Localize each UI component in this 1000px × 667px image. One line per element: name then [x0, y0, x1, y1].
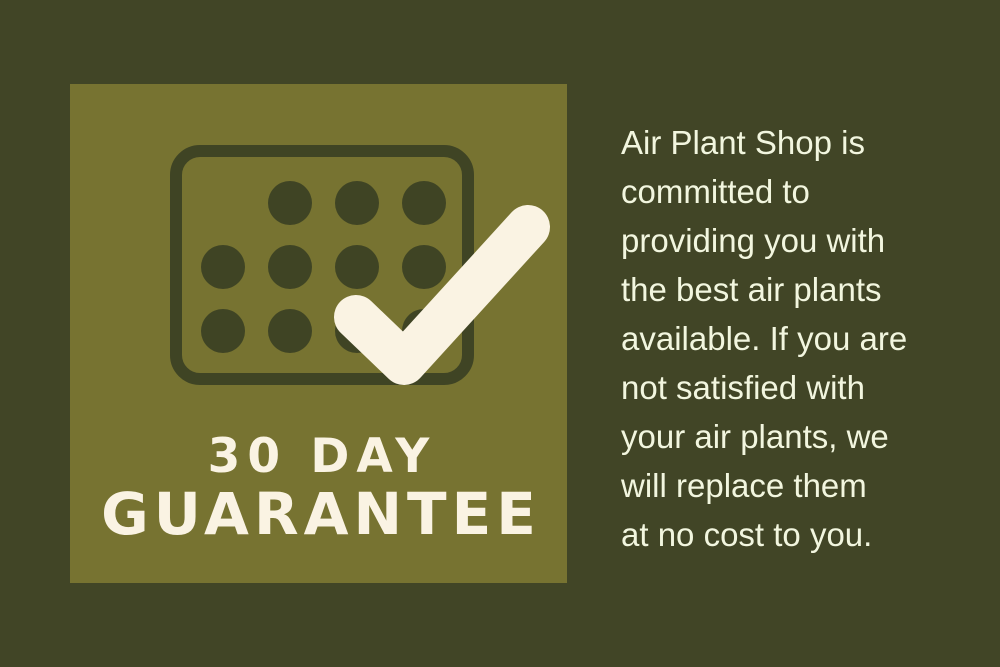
- badge-headline: 30 DAY GUARANTEE: [70, 434, 567, 543]
- guarantee-copy-paragraph: Air Plant Shop is committed to providing…: [621, 118, 951, 559]
- headline-line-1: 30 DAY: [70, 434, 567, 480]
- copy-line: providing you with: [621, 216, 951, 265]
- calendar-check-icon: [170, 145, 474, 385]
- calendar-dot: [268, 309, 312, 353]
- calendar-dot: [201, 309, 245, 353]
- calendar-dot: [268, 245, 312, 289]
- calendar-dot: [268, 181, 312, 225]
- guarantee-banner: 30 DAY GUARANTEE Air Plant Shop is commi…: [0, 0, 1000, 667]
- copy-line: committed to: [621, 167, 951, 216]
- copy-line: will replace them: [621, 461, 951, 510]
- headline-line-2: GUARANTEE: [70, 486, 567, 543]
- copy-line: available. If you are: [621, 314, 951, 363]
- guarantee-badge-card: 30 DAY GUARANTEE: [70, 84, 567, 583]
- copy-line: the best air plants: [621, 265, 951, 314]
- copy-line: Air Plant Shop is: [621, 118, 951, 167]
- copy-line: at no cost to you.: [621, 510, 951, 559]
- copy-line: not satisfied with: [621, 363, 951, 412]
- calendar-dot: [201, 245, 245, 289]
- checkmark-icon: [342, 213, 542, 373]
- copy-line: your air plants, we: [621, 412, 951, 461]
